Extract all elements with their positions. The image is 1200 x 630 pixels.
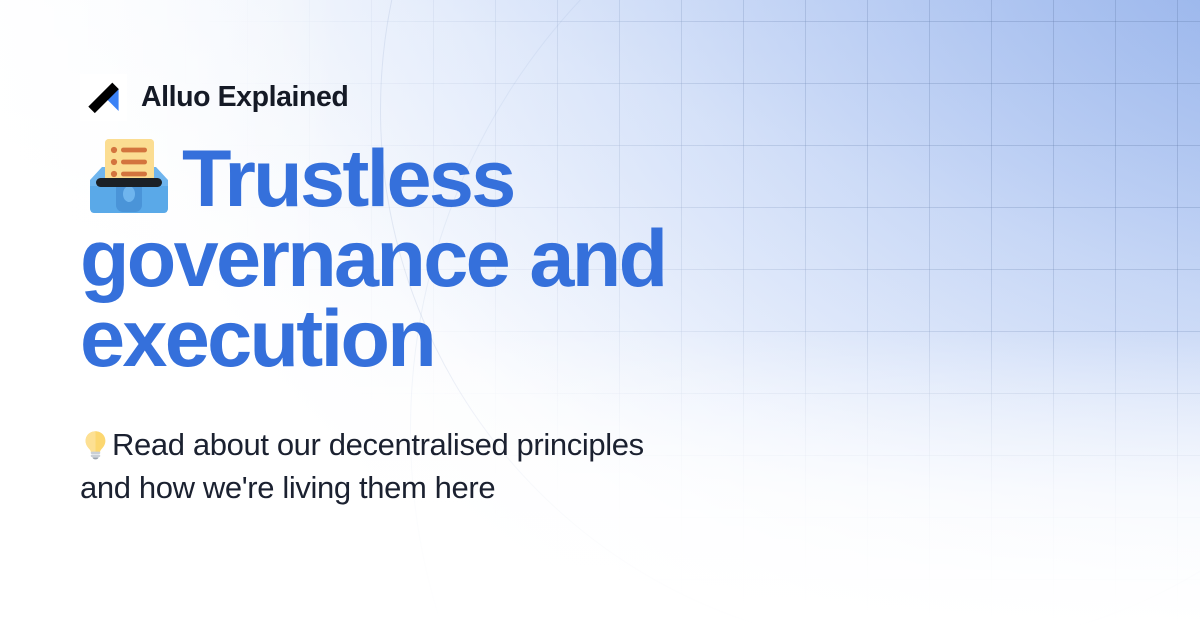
page-title: Trustless governance and execution — [80, 134, 880, 380]
brand-row: Alluo Explained — [80, 74, 960, 120]
card-content: Alluo Explained Trustless governance and… — [80, 74, 960, 509]
og-share-card: Alluo Explained Trustless governance and… — [0, 0, 1200, 630]
light-bulb-icon — [80, 429, 111, 460]
brand-name-label: Alluo Explained — [141, 81, 348, 114]
alluo-logo-icon — [80, 74, 127, 121]
page-subtitle-line-1: Read about our decentralised principles — [112, 427, 644, 462]
page-subtitle-line-2: and how we're living them here — [80, 470, 495, 505]
page-subtitle: Read about our decentralised principlesa… — [80, 423, 840, 510]
ballot-box-with-ballot-emoji — [80, 134, 178, 220]
